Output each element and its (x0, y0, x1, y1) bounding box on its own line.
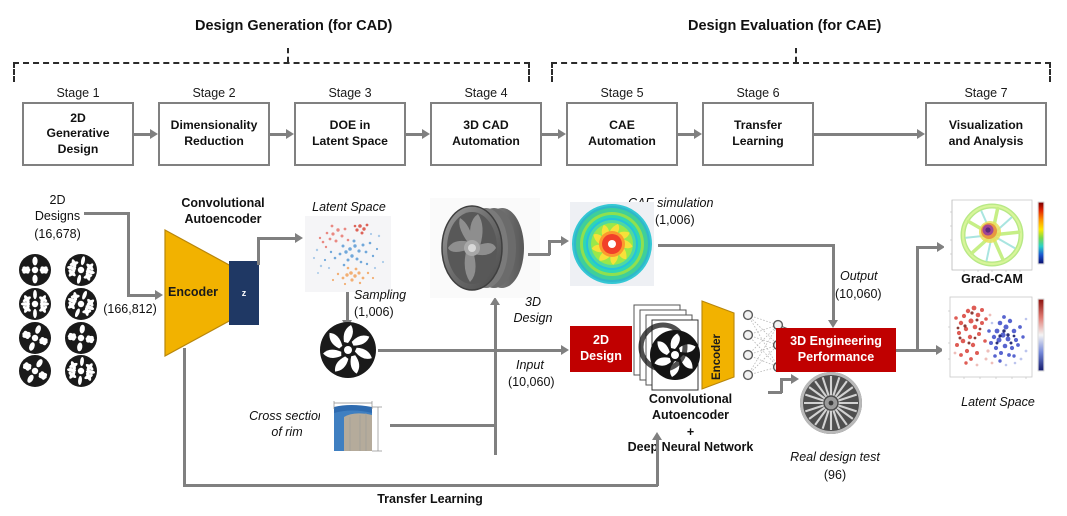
stage-label-2: Stage 2 (158, 86, 270, 100)
stage-label-7: Stage 7 (925, 86, 1047, 100)
designs-count: (16,678) (10, 227, 105, 243)
stage-title-1: 2D Generative Design (46, 111, 109, 158)
designs-thumbnail-grid (14, 252, 104, 387)
latent-space-bottom-label: Latent Space (948, 395, 1048, 411)
real-wheel-svg (798, 370, 864, 436)
bracket-design-generation (13, 62, 530, 82)
cross-section-figure (320, 393, 390, 457)
sampling-line (346, 292, 349, 320)
stage-arrow-3-4-icon (422, 129, 430, 139)
cross-section-to-trunk-line (390, 424, 496, 427)
twod-design-box-label: 2D Design (580, 333, 622, 364)
stage-label-6: Stage 6 (702, 86, 814, 100)
sampling-label: Sampling (354, 288, 406, 304)
real-design-test-label: Real design test (780, 450, 890, 466)
real-design-test-figure (798, 370, 864, 436)
phase-title-design-evaluation: Design Evaluation (for CAE) (688, 18, 881, 34)
stage-arrow-6-7-icon (917, 129, 925, 139)
cae-output-arrow-icon (828, 320, 838, 328)
stage-connector-1-2 (134, 133, 150, 136)
perf-to-gradcam-line-top (916, 246, 938, 249)
latent-space-bottom-figure (942, 293, 1054, 385)
stage-label-4: Stage 4 (430, 86, 542, 100)
three-d-design-figure (430, 198, 540, 298)
stage-box-5: CAE Automation (566, 102, 678, 166)
perf-to-latent-line (896, 349, 938, 352)
trunk-vertical-line (494, 305, 497, 455)
designs-to-encoder-arrow-icon (155, 290, 163, 300)
three-d-wheel-svg (430, 198, 540, 298)
performance-box: 3D Engineering Performance (776, 328, 896, 372)
input-line (494, 349, 562, 352)
stage-connector-5-6 (678, 133, 694, 136)
cae-output-line-h (658, 244, 834, 247)
stage-title-5: CAE Automation (588, 118, 656, 149)
cae-dnn-network: Deep Neural Network (608, 440, 773, 456)
stage-title-7: Visualization and Analysis (949, 118, 1024, 149)
stage-label-5: Stage 5 (566, 86, 678, 100)
stage-arrow-1-2-icon (150, 129, 158, 139)
pairs-count-label: (166,812) (95, 302, 165, 318)
stage-box-4: 3D CAD Automation (430, 102, 542, 166)
conv-autoencoder-title: Convolutional Autoencoder (158, 196, 288, 227)
bracket-tick-left (287, 48, 289, 62)
transfer-loop-left-v (183, 348, 186, 486)
design-to-cae-line-a (528, 253, 550, 256)
stacked-designs-icon (632, 303, 704, 395)
stage-arrow-2-3-icon (286, 129, 294, 139)
input-count: (10,060) (508, 375, 555, 391)
latent-space-top-label: Latent Space (303, 200, 395, 216)
encoder-label: Encoder (168, 285, 218, 299)
grad-cam-label: Grad-CAM (944, 272, 1040, 288)
stage-box-2: Dimensionality Reduction (158, 102, 270, 166)
output-label: Output (840, 269, 878, 285)
z-block: z (229, 261, 259, 325)
stage-connector-6-7 (814, 133, 917, 136)
z-to-latent-line (257, 237, 295, 240)
cae-simulation-figure (570, 202, 654, 286)
grad-cam-figure (944, 196, 1052, 276)
stage-title-3: DOE in Latent Space (312, 118, 388, 149)
output-count: (10,060) (835, 287, 882, 303)
stage-connector-2-3 (270, 133, 286, 136)
latent-scatter-bottom-svg (942, 293, 1054, 385)
transfer-loop-right-v (656, 440, 659, 486)
three-d-design-label: 3D Design (503, 295, 563, 326)
transfer-learning-label: Transfer Learning (350, 492, 510, 508)
cae-contour-svg (570, 202, 654, 286)
stage-connector-3-4 (406, 133, 422, 136)
input-label: Input (516, 358, 544, 374)
stage-label-3: Stage 3 (294, 86, 406, 100)
sampled-to-trunk-line (378, 349, 496, 352)
z-label: z (242, 288, 247, 298)
latent-space-top-figure (305, 216, 391, 292)
stage-box-1: 2D Generative Design (22, 102, 134, 166)
stage-arrow-4-5-icon (558, 129, 566, 139)
designs-to-encoder-in-line (127, 294, 155, 297)
transfer-loop-bottom-h (183, 484, 658, 487)
stage-box-3: DOE in Latent Space (294, 102, 406, 166)
design-to-cae-line-b (548, 240, 562, 243)
stage-label-1: Stage 1 (22, 86, 134, 100)
trunk-up-arrow-icon (490, 297, 500, 305)
twod-design-box: 2D Design (570, 326, 632, 372)
design-to-cae-arrow-icon (561, 236, 569, 246)
phase-title-design-generation: Design Generation (for CAD) (195, 18, 392, 34)
stage-title-4: 3D CAD Automation (452, 118, 520, 149)
sampled-wheel-svg (318, 320, 378, 380)
stage-title-2: Dimensionality Reduction (171, 118, 258, 149)
cae-dnn-caption: Convolutional Autoencoder (608, 392, 773, 423)
stage-box-7: Visualization and Analysis (925, 102, 1047, 166)
bracket-tick-right (795, 48, 797, 62)
perf-to-gradcam-line-v (916, 246, 919, 351)
cae-dnn-plus: + (608, 425, 773, 441)
sampling-count: (1,006) (354, 305, 394, 321)
stage-connector-4-5 (542, 133, 558, 136)
encoder2-label: Encoder (711, 312, 723, 380)
stage-arrow-5-6-icon (694, 129, 702, 139)
input-arrow-icon (561, 345, 569, 355)
z-to-latent-rise-line (257, 237, 260, 265)
sampled-2d-design-icon (318, 320, 378, 380)
z-to-latent-arrow-icon (295, 233, 303, 243)
performance-box-label: 3D Engineering Performance (790, 334, 882, 365)
stage-box-6: Transfer Learning (702, 102, 814, 166)
wheel-thumbnails-svg (14, 252, 104, 387)
cae-output-line-v (832, 244, 835, 320)
real-design-test-count: (96) (780, 468, 890, 484)
grad-cam-svg (944, 196, 1052, 276)
designs-to-encoder-drop-line (127, 212, 130, 296)
latent-scatter-top-svg (305, 216, 391, 292)
stacked-wheels-svg (632, 303, 704, 395)
designs-to-encoder-top-line (84, 212, 129, 215)
cross-section-svg (320, 393, 390, 457)
transfer-loop-arrow-icon (652, 432, 662, 440)
cae-simulation-count: (1,006) (655, 213, 695, 229)
diagram-canvas: Design Generation (for CAD) Design Evalu… (0, 0, 1067, 516)
bracket-design-evaluation (551, 62, 1051, 82)
designs-title: 2D Designs (10, 193, 105, 224)
stage-title-6: Transfer Learning (732, 118, 783, 149)
